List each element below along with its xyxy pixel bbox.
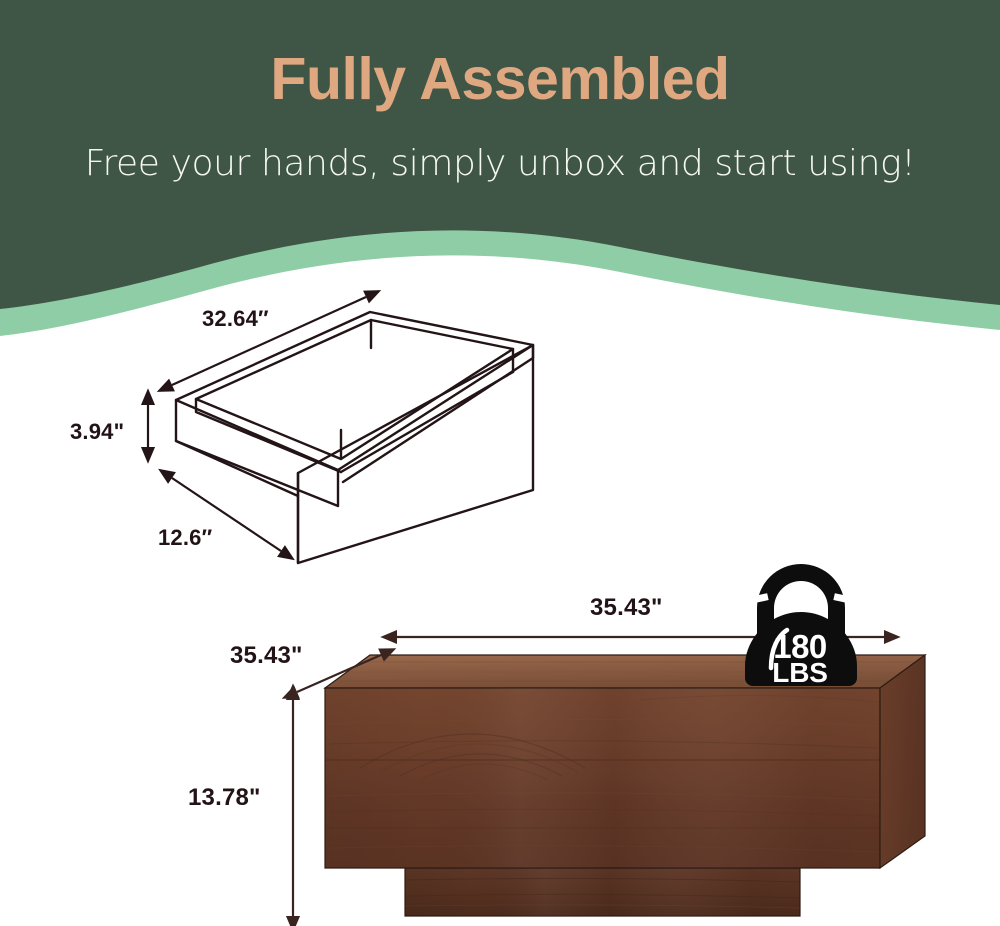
table-base-grain — [405, 868, 800, 916]
drawer-height-label: 3.94" — [70, 419, 124, 444]
diagrams-graphic: 32.64″ 3.94" 12.6″ — [0, 0, 1000, 926]
table-front-grain — [325, 688, 880, 868]
table-height-label: 13.78" — [188, 784, 261, 811]
product-infographic: Fully Assembled Free your hands, simply … — [0, 0, 1000, 926]
coffee-table-illustration — [325, 655, 925, 916]
weight-badge-unit: LBS — [772, 657, 827, 688]
table-width-label: 35.43" — [590, 594, 663, 621]
diagram-layer: 32.64″ 3.94" 12.6″ — [0, 0, 1000, 926]
drawer-depth-label: 12.6″ — [158, 525, 213, 550]
table-right-face — [880, 655, 925, 868]
table-depth-label: 35.43" — [230, 642, 303, 669]
weight-capacity-badge: 180 LBS — [745, 564, 857, 688]
drawer-width-label: 32.64″ — [202, 306, 269, 331]
drawer-illustration — [176, 312, 533, 563]
